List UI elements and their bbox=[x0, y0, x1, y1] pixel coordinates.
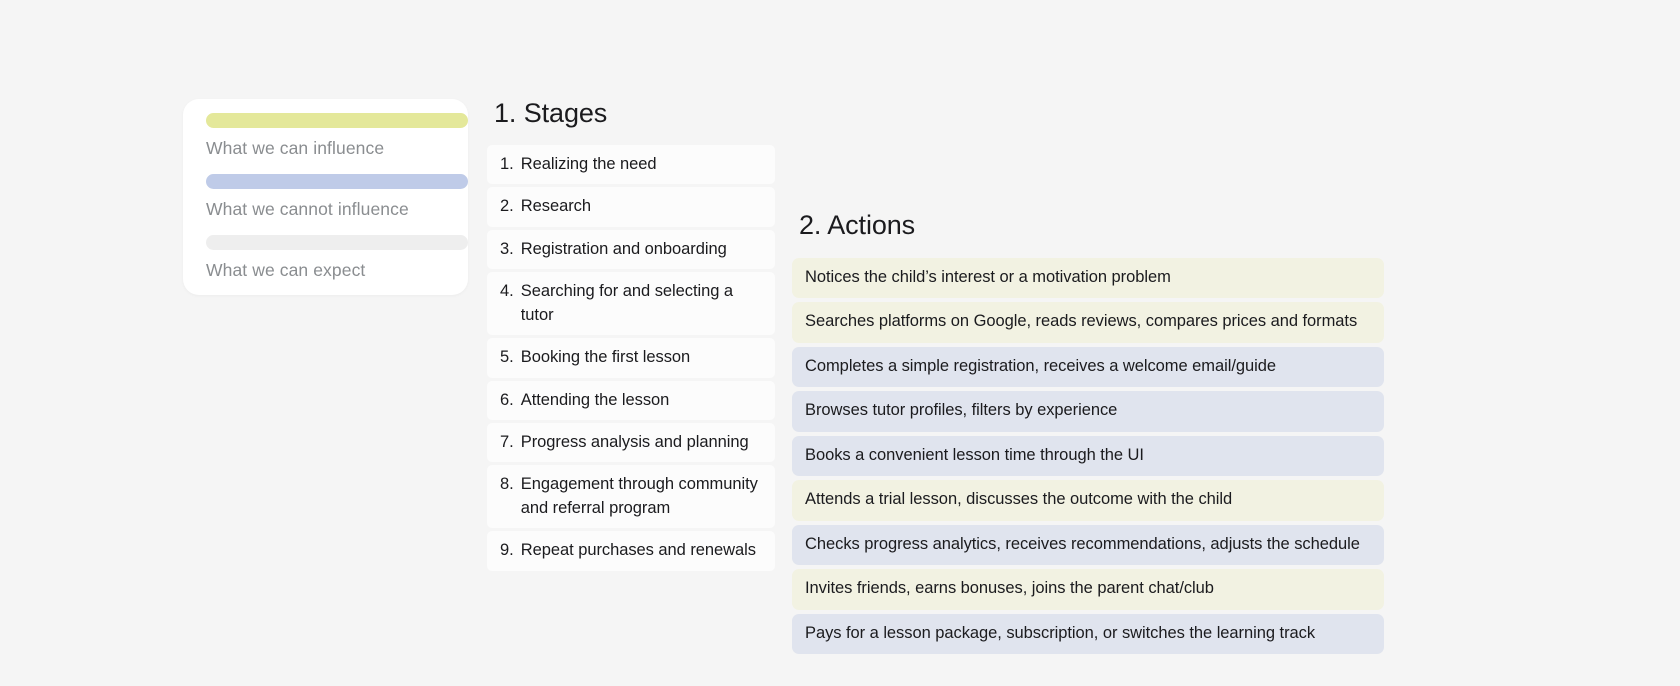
stage-number: 4. bbox=[500, 280, 514, 303]
action-label: Invites friends, earns bonuses, joins th… bbox=[805, 578, 1214, 599]
action-label: Notices the child’s interest or a motiva… bbox=[805, 267, 1171, 288]
stage-number: 8. bbox=[500, 473, 514, 496]
stage-number: 5. bbox=[500, 346, 514, 369]
action-row[interactable]: Books a convenient lesson time through t… bbox=[792, 436, 1384, 476]
legend-card: What we can influence What we cannot inf… bbox=[183, 99, 468, 295]
stage-label: Attending the lesson bbox=[521, 389, 670, 412]
stage-number: 1. bbox=[500, 153, 514, 176]
action-row[interactable]: Pays for a lesson package, subscription,… bbox=[792, 614, 1384, 654]
action-row[interactable]: Searches platforms on Google, reads revi… bbox=[792, 302, 1384, 342]
stage-row[interactable]: 6.Attending the lesson bbox=[487, 381, 775, 420]
stage-label: Registration and onboarding bbox=[521, 238, 727, 261]
action-label: Browses tutor profiles, filters by exper… bbox=[805, 400, 1117, 421]
stage-row[interactable]: 5.Booking the first lesson bbox=[487, 338, 775, 377]
stage-row[interactable]: 3.Registration and onboarding bbox=[487, 230, 775, 269]
stage-label: Repeat purchases and renewals bbox=[521, 539, 756, 562]
action-label: Pays for a lesson package, subscription,… bbox=[805, 623, 1315, 644]
action-row[interactable]: Attends a trial lesson, discusses the ou… bbox=[792, 480, 1384, 520]
stage-number: 6. bbox=[500, 389, 514, 412]
stage-row[interactable]: 7.Progress analysis and planning bbox=[487, 423, 775, 462]
legend-item-label: What we can influence bbox=[206, 138, 456, 159]
action-label: Completes a simple registration, receive… bbox=[805, 356, 1276, 377]
legend-item: What we can expect bbox=[195, 235, 456, 281]
stage-label: Engagement through community and referra… bbox=[521, 473, 763, 520]
stage-row[interactable]: 9.Repeat purchases and renewals bbox=[487, 531, 775, 570]
stages-section-title: 1. Stages bbox=[494, 98, 607, 129]
legend-swatch-yellow bbox=[206, 113, 468, 128]
legend-item-label: What we cannot influence bbox=[206, 199, 456, 220]
stage-number: 7. bbox=[500, 431, 514, 454]
stage-label: Progress analysis and planning bbox=[521, 431, 749, 454]
legend-swatch-blue bbox=[206, 174, 468, 189]
action-label: Checks progress analytics, receives reco… bbox=[805, 534, 1360, 555]
stages-list: 1.Realizing the need2.Research3.Registra… bbox=[487, 145, 775, 574]
stage-number: 9. bbox=[500, 539, 514, 562]
stage-row[interactable]: 1.Realizing the need bbox=[487, 145, 775, 184]
action-label: Searches platforms on Google, reads revi… bbox=[805, 311, 1357, 332]
stage-row[interactable]: 8.Engagement through community and refer… bbox=[487, 465, 775, 528]
stage-label: Searching for and selecting a tutor bbox=[521, 280, 763, 327]
stage-row[interactable]: 2.Research bbox=[487, 187, 775, 226]
stage-number: 3. bbox=[500, 238, 514, 261]
stage-label: Realizing the need bbox=[521, 153, 657, 176]
legend-item: What we cannot influence bbox=[195, 174, 456, 220]
action-row[interactable]: Checks progress analytics, receives reco… bbox=[792, 525, 1384, 565]
action-row[interactable]: Completes a simple registration, receive… bbox=[792, 347, 1384, 387]
action-label: Books a convenient lesson time through t… bbox=[805, 445, 1144, 466]
actions-section-title: 2. Actions bbox=[799, 210, 915, 241]
legend-item: What we can influence bbox=[195, 113, 456, 159]
stage-label: Research bbox=[521, 195, 591, 218]
stage-number: 2. bbox=[500, 195, 514, 218]
actions-list: Notices the child’s interest or a motiva… bbox=[792, 258, 1384, 658]
stage-label: Booking the first lesson bbox=[521, 346, 690, 369]
legend-swatch-gray bbox=[206, 235, 468, 250]
action-row[interactable]: Invites friends, earns bonuses, joins th… bbox=[792, 569, 1384, 609]
page-canvas: What we can influence What we cannot inf… bbox=[0, 0, 1680, 686]
action-row[interactable]: Browses tutor profiles, filters by exper… bbox=[792, 391, 1384, 431]
action-row[interactable]: Notices the child’s interest or a motiva… bbox=[792, 258, 1384, 298]
action-label: Attends a trial lesson, discusses the ou… bbox=[805, 489, 1232, 510]
legend-item-label: What we can expect bbox=[206, 260, 456, 281]
stage-row[interactable]: 4.Searching for and selecting a tutor bbox=[487, 272, 775, 335]
